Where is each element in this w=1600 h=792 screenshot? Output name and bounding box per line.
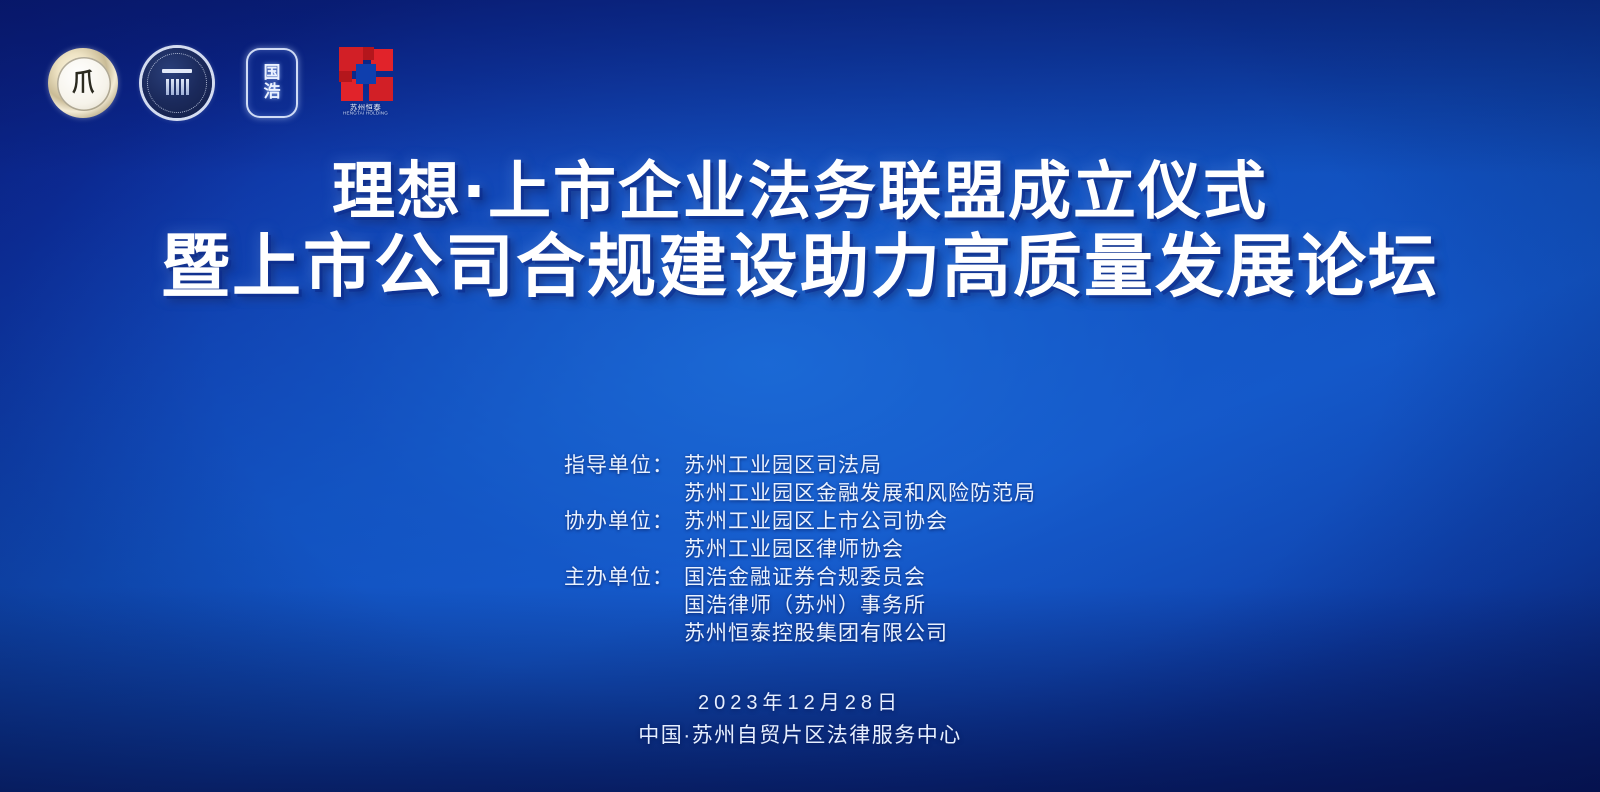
organizer-group-cohost: 协办单位： 苏州工业园区上市公司协会 苏州工业园区律师协会 (564, 508, 1036, 564)
hengtai-wordmark: 苏州恒泰 HENGTAI HOLDING (343, 105, 388, 118)
event-title-line-2: 暨上市公司合规建设助力高质量发展论坛 (40, 231, 1560, 305)
gold-seal-logo: 爪 (48, 48, 120, 120)
event-title: 理想·上市企业法务联盟成立仪式 暨上市公司合规建设助力高质量发展论坛 (0, 158, 1600, 305)
organizer-value: 苏州恒泰控股集团有限公司 (684, 620, 948, 648)
guohao-seal-logo: 国 浩 (236, 48, 308, 120)
guohao-seal-glyph-top: 国 (264, 65, 281, 82)
organizers-block: 指导单位： 苏州工业园区司法局 苏州工业园区金融发展和风险防范局 协办单位： 苏… (0, 452, 1600, 648)
organizer-value: 国浩律师（苏州）事务所 (684, 592, 948, 620)
organizer-value: 苏州工业园区金融发展和风险防范局 (684, 480, 1036, 508)
slide-canvas: 爪 国 浩 苏州恒泰 HENGTAI HOLD (0, 0, 1600, 792)
organizer-label-guidance: 指导单位： (564, 452, 684, 508)
organizer-value: 苏州工业园区律师协会 (684, 536, 948, 564)
guohao-seal-glyph-bottom: 浩 (264, 84, 281, 101)
event-footer: 2023年12月28日 中国·苏州自贸片区法律服务中心 (0, 688, 1600, 752)
university-badge-logo (142, 48, 214, 120)
event-date: 2023年12月28日 (0, 688, 1600, 718)
organizer-value: 苏州工业园区上市公司协会 (684, 508, 948, 536)
gold-seal-logo-glyph: 爪 (72, 70, 94, 96)
hengtai-wordmark-en: HENGTAI HOLDING (343, 112, 388, 117)
university-badge-roof (162, 69, 192, 73)
organizer-group-host: 主办单位： 国浩金融证券合规委员会 国浩律师（苏州）事务所 苏州恒泰控股集团有限… (564, 564, 1036, 648)
event-title-line-1: 理想·上市企业法务联盟成立仪式 (40, 158, 1560, 225)
logo-strip: 爪 国 浩 苏州恒泰 HENGTAI HOLD (48, 44, 402, 124)
organizer-value: 国浩金融证券合规委员会 (684, 564, 948, 592)
event-venue: 中国·苏州自贸片区法律服务中心 (0, 720, 1600, 752)
hengtai-pinwheel-icon (339, 47, 393, 101)
organizer-group-guidance: 指导单位： 苏州工业园区司法局 苏州工业园区金融发展和风险防范局 (564, 452, 1036, 508)
hengtai-logo: 苏州恒泰 HENGTAI HOLDING (330, 47, 402, 121)
organizer-value: 苏州工业园区司法局 (684, 452, 1036, 480)
university-badge-pillars (164, 73, 190, 95)
organizer-label-host: 主办单位： (564, 564, 684, 648)
organizer-label-cohost: 协办单位： (564, 508, 684, 564)
